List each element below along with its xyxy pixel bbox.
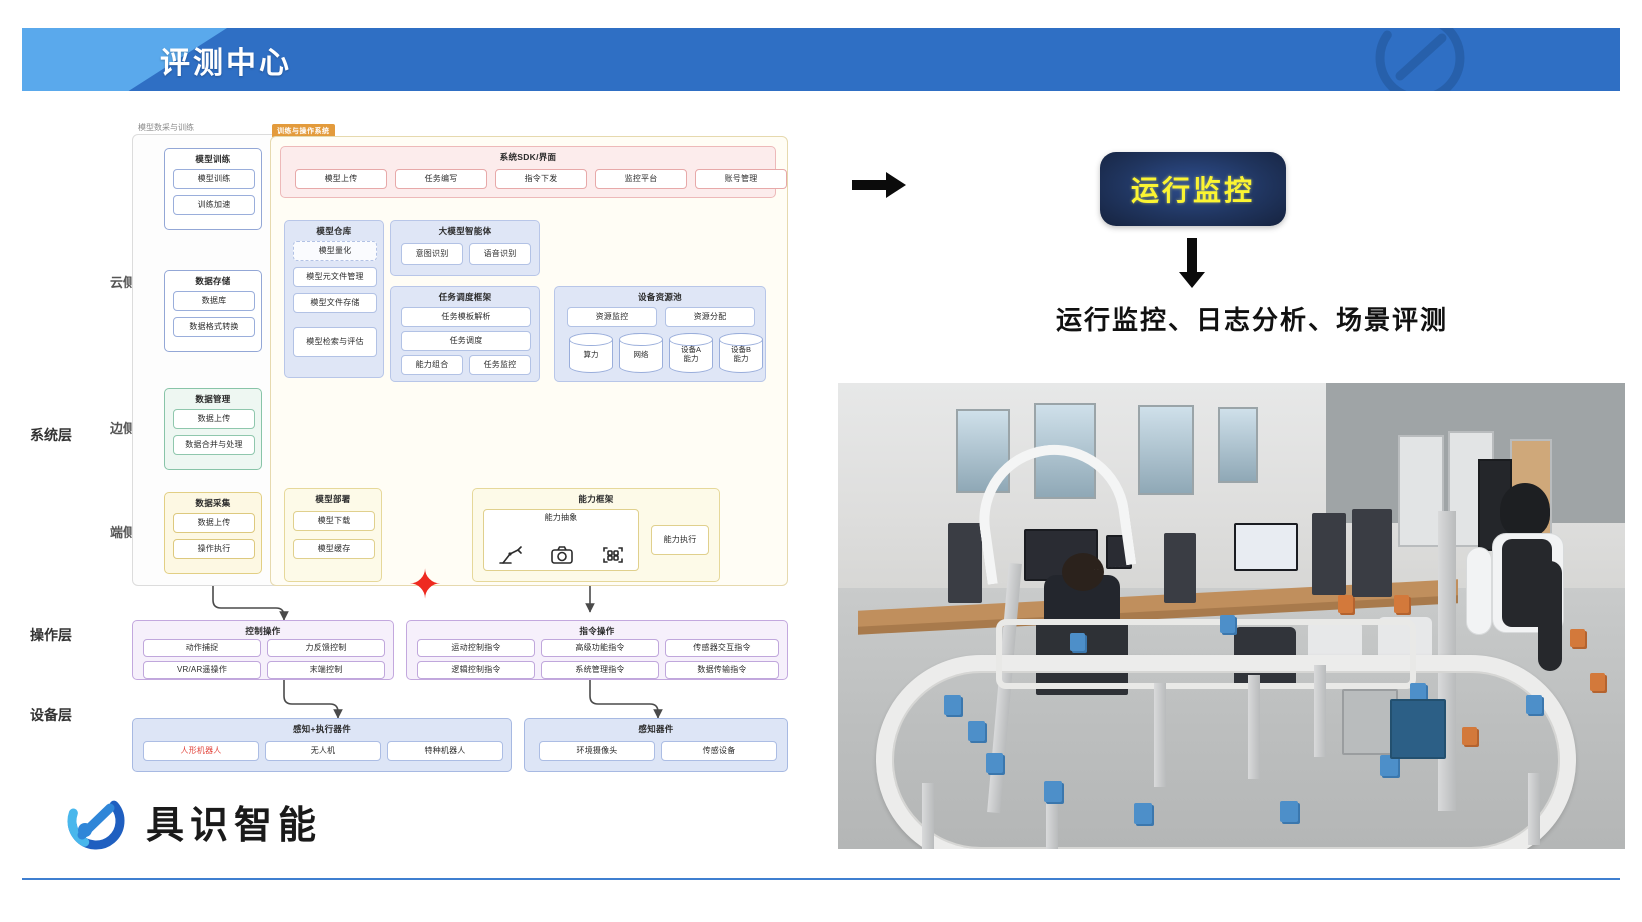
chip-ability-combination[interactable]: 能力组合: [401, 355, 463, 375]
chip-sdk-monitor-platform[interactable]: 监控平台: [595, 169, 687, 189]
cylinder-compute[interactable]: 算力: [569, 333, 613, 373]
photo-cube-11: [1526, 695, 1542, 714]
chip-env-camera[interactable]: 环境摄像头: [539, 741, 655, 761]
photo-conveyor-back: [996, 619, 1416, 689]
group-model-training: 模型训练 模型训练 训练加速: [164, 148, 262, 230]
photo-cube-4: [1044, 781, 1062, 802]
photo-leg-4: [1248, 675, 1260, 779]
lab-photo: [838, 383, 1625, 849]
photo-cube-16: [1462, 727, 1477, 745]
chip-sdk-account-mgmt[interactable]: 账号管理: [695, 169, 787, 189]
cylinder-device-a[interactable]: 设备A 能力: [669, 333, 713, 373]
photo-tower-3: [1312, 513, 1346, 595]
chip-ability-abstraction[interactable]: 能力抽象: [483, 509, 639, 571]
cylinder-network[interactable]: 网络: [619, 333, 663, 373]
photo-cube-2: [968, 721, 985, 741]
brand-ring-icon: [1360, 28, 1480, 91]
cylinder-compute-label: 算力: [584, 351, 599, 360]
group-data-storage: 数据存储 数据库 数据格式转换: [164, 270, 262, 352]
group-task-scheduling: 任务调度框架 任务模板解析 任务调度 能力组合 任务监控: [390, 286, 540, 382]
diagram-caption-left: 模型数采与训练: [138, 122, 194, 133]
chip-task-monitor[interactable]: 任务监控: [469, 355, 531, 375]
photo-leg-6: [1528, 773, 1540, 845]
photo-leg-3: [1154, 683, 1166, 787]
photo-leg-5: [1314, 665, 1326, 757]
photo-bin-blue: [1390, 699, 1446, 759]
chip-sensor-inter-cmd[interactable]: 传感器交互指令: [665, 639, 779, 657]
chip-end-effector-ctrl[interactable]: 末端控制: [267, 661, 385, 679]
group-instruction-operations: 指令操作 运动控制指令 高级功能指令 传感器交互指令 逻辑控制指令 系统管理指令…: [406, 620, 788, 680]
photo-cube-13: [1394, 595, 1409, 613]
cylinder-device-b[interactable]: 设备B 能力: [719, 333, 763, 373]
chip-data-transmit-cmd[interactable]: 数据传输指令: [665, 661, 779, 679]
ability-abstraction-label: 能力抽象: [545, 514, 578, 523]
photo-cube-8: [1070, 633, 1085, 651]
camera-icon: [550, 544, 574, 566]
cylinder-device-b-label: 设备B 能力: [731, 346, 751, 363]
photo-robot-arm-left: [1466, 547, 1492, 635]
chip-model-search-eval[interactable]: 模型检索与评估: [293, 327, 377, 357]
photo-monitor-2: [1234, 523, 1298, 571]
photo-leg-1: [922, 783, 934, 849]
group-llm-agent: 大模型智能体 意图识别 语音识别: [390, 220, 540, 276]
group-device-resource-pool: 设备资源池 资源监控 资源分配 算力 网络 设备A 能力 设备B 能力: [554, 286, 766, 382]
chip-intent-recognition[interactable]: 意图识别: [401, 243, 463, 265]
sensor-grid-icon: [601, 544, 625, 566]
chip-system-mgmt-cmd[interactable]: 系统管理指令: [541, 661, 659, 679]
photo-cube-5: [1134, 803, 1152, 824]
star-highlight-icon: ✦: [408, 568, 442, 602]
chip-drone[interactable]: 无人机: [265, 741, 381, 761]
status-badge-running-monitor: 运行监控: [1100, 152, 1286, 226]
chip-data-upload-collect[interactable]: 数据上传: [173, 513, 255, 533]
layer-label-system: 系统层: [30, 425, 72, 445]
cylinder-device-a-label: 设备A 能力: [681, 346, 701, 363]
robot-arm-icon: [497, 544, 523, 566]
chip-sdk-task-compose[interactable]: 任务编写: [395, 169, 487, 189]
layer-label-operation: 操作层: [30, 625, 72, 645]
chip-task-template-parse[interactable]: 任务模板解析: [401, 307, 531, 327]
chip-ability-execute[interactable]: 能力执行: [651, 525, 709, 555]
page-header: 评测中心: [22, 28, 1620, 91]
chip-resource-allocation[interactable]: 资源分配: [665, 307, 755, 327]
group-control-operations: 控制操作 动作捕捉 力反馈控制 VR/AR遥操作 末端控制: [132, 620, 394, 680]
page-title: 评测中心: [160, 38, 292, 82]
chip-operation-execute[interactable]: 操作执行: [173, 539, 255, 559]
chip-humanoid-robot[interactable]: 人形机器人: [143, 741, 259, 761]
chip-database[interactable]: 数据库: [173, 291, 255, 311]
chip-model-metafile-mgmt[interactable]: 模型元文件管理: [293, 267, 377, 287]
chip-resource-monitor[interactable]: 资源监控: [567, 307, 657, 327]
group-model-deploy: 模型部署 模型下载 模型缓存: [284, 488, 382, 582]
photo-robot-arm-right: [1538, 561, 1562, 671]
arrow-right-icon: [852, 170, 908, 200]
photo-cube-14: [1570, 629, 1585, 647]
chip-data-merge-process[interactable]: 数据合并与处理: [173, 435, 255, 455]
photo-cube-9: [1220, 615, 1235, 633]
slide-root: 评测中心 系统层 操作层 设备层 云侧 边侧 端侧: [0, 0, 1642, 922]
group-sense-devices: 感知器件 环境摄像头 传感设备: [524, 718, 788, 772]
chip-model-training[interactable]: 模型训练: [173, 169, 255, 189]
photo-cube-3: [986, 753, 1003, 773]
footer-divider: [22, 878, 1620, 880]
photo-tower-2: [1164, 533, 1196, 603]
cylinder-network-label: 网络: [634, 351, 649, 360]
group-data-management: 数据管理 数据上传 数据合并与处理: [164, 388, 262, 470]
photo-cube-12: [1338, 595, 1353, 613]
chip-model-file-storage[interactable]: 模型文件存储: [293, 293, 377, 313]
chip-model-quantization[interactable]: 模型量化: [293, 241, 377, 261]
photo-tower-4: [1352, 509, 1392, 597]
chip-data-upload-mgmt[interactable]: 数据上传: [173, 409, 255, 429]
chip-training-accel[interactable]: 训练加速: [173, 195, 255, 215]
photo-leg-2: [1046, 803, 1058, 849]
chip-model-download[interactable]: 模型下载: [293, 511, 375, 531]
photo-tower-1: [948, 523, 982, 603]
chip-motion-cmd[interactable]: 运动控制指令: [417, 639, 535, 657]
logo-text: 具识智能: [146, 794, 322, 849]
photo-cube-15: [1590, 673, 1605, 691]
chip-sensor-device[interactable]: 传感设备: [661, 741, 777, 761]
group-sense-execute-devices: 感知+执行器件 人形机器人 无人机 特种机器人: [132, 718, 512, 772]
group-ability-framework: 能力框架 能力抽象: [472, 488, 720, 582]
photo-cube-1: [944, 695, 961, 715]
group-system-sdk: 系统SDK/界面 模型上传 任务编写 指令下发 监控平台 账号管理: [280, 146, 776, 198]
chip-model-cache[interactable]: 模型缓存: [293, 539, 375, 559]
group-data-collection: 数据采集 数据上传 操作执行: [164, 492, 262, 574]
chip-advanced-fn-cmd[interactable]: 高级功能指令: [541, 639, 659, 657]
chip-data-format-convert[interactable]: 数据格式转换: [173, 317, 255, 337]
chip-task-scheduling[interactable]: 任务调度: [401, 331, 531, 351]
arrow-down-icon: [1178, 238, 1206, 290]
chip-motion-capture[interactable]: 动作捕捉: [143, 639, 261, 657]
photo-robot-head: [1500, 483, 1550, 537]
brand-logo: 具识智能: [60, 790, 322, 852]
logo-mark-icon: [60, 790, 132, 852]
badge-label: 运行监控: [1131, 169, 1255, 209]
chip-force-feedback[interactable]: 力反馈控制: [267, 639, 385, 657]
monitoring-subtitle: 运行监控、日志分析、场景评测: [1022, 300, 1482, 337]
photo-window-4: [1218, 407, 1258, 483]
chip-speech-recognition[interactable]: 语音识别: [469, 243, 531, 265]
architecture-diagram: 模型数采与训练 训练与操作系统 模型训练 模型训练 训练加速 数据存储 数据库 …: [120, 120, 820, 780]
layer-label-device: 设备层: [30, 705, 72, 725]
chip-logic-ctrl-cmd[interactable]: 逻辑控制指令: [417, 661, 535, 679]
chip-sdk-command-issue[interactable]: 指令下发: [495, 169, 587, 189]
photo-cube-6: [1280, 801, 1298, 822]
chip-sdk-model-upload[interactable]: 模型上传: [295, 169, 387, 189]
ability-icon-row: [484, 544, 638, 566]
chip-vr-ar-teleop[interactable]: VR/AR遥操作: [143, 661, 261, 679]
group-model-repository: 模型仓库 模型量化 模型元文件管理 模型文件存储 模型检索与评估: [284, 220, 384, 378]
photo-window-3: [1138, 405, 1194, 495]
chip-special-robot[interactable]: 特种机器人: [387, 741, 503, 761]
